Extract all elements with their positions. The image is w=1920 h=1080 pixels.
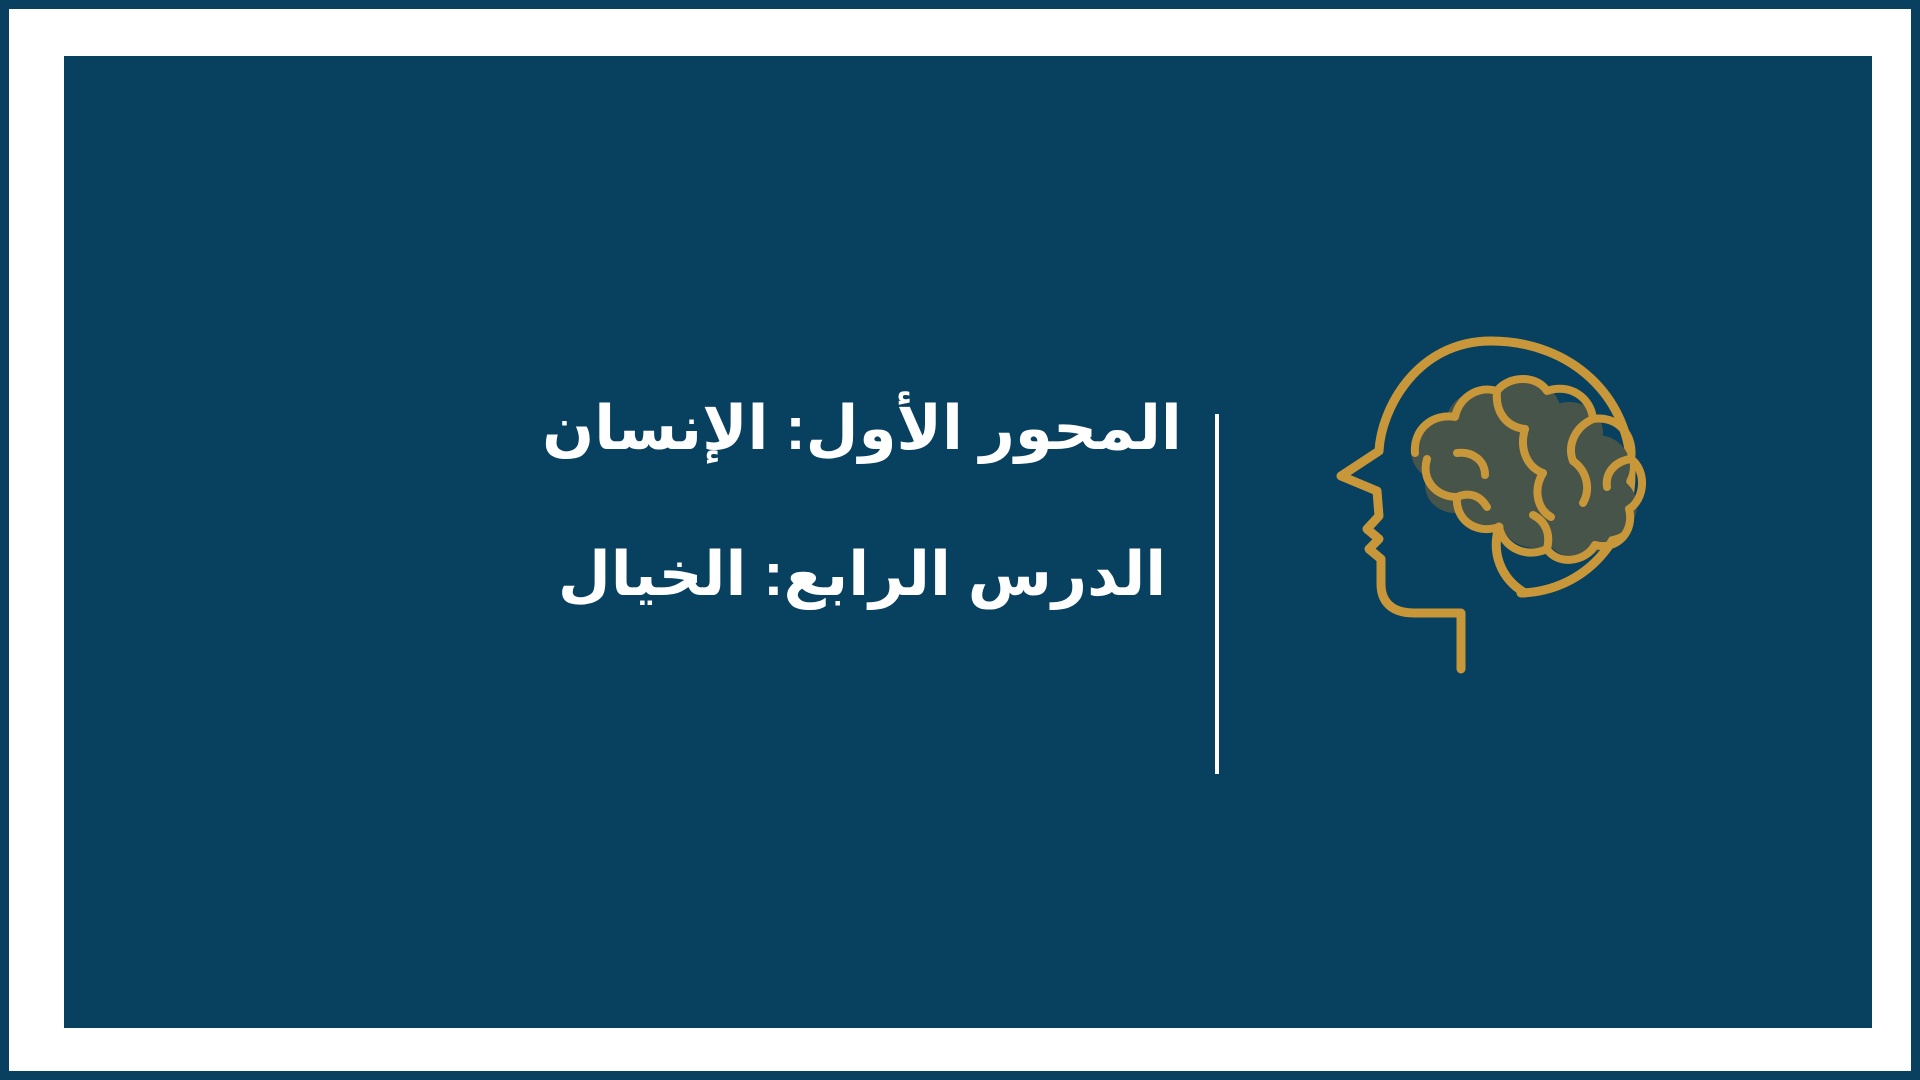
slide-outer-frame: المحور الأول: الإنسان الدرس الرابع: الخي… <box>0 0 1920 1080</box>
slide-content-panel: المحور الأول: الإنسان الدرس الرابع: الخي… <box>64 56 1872 1028</box>
head-brain-icon <box>1329 301 1669 701</box>
lesson-title: الدرس الرابع: الخيال <box>462 542 1262 606</box>
vertical-divider <box>1215 414 1219 774</box>
slide-white-matte: المحور الأول: الإنسان الدرس الرابع: الخي… <box>9 9 1911 1071</box>
axis-title: المحور الأول: الإنسان <box>462 396 1262 460</box>
slide-title-block: المحور الأول: الإنسان الدرس الرابع: الخي… <box>462 396 1262 606</box>
